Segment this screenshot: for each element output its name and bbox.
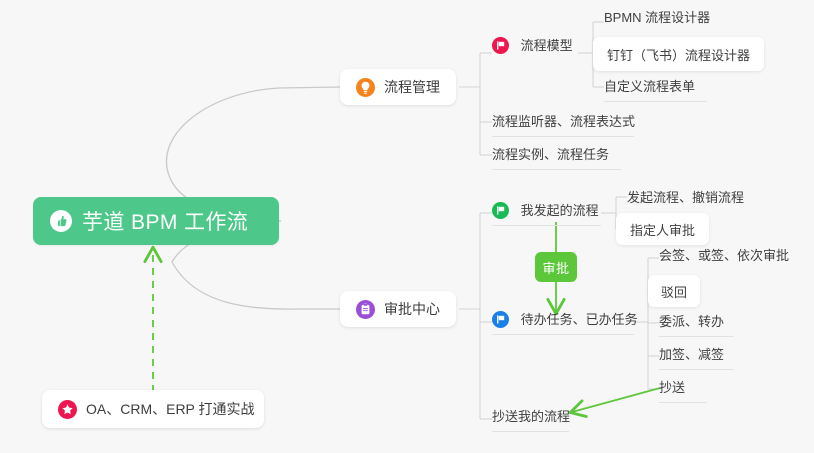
flag-icon bbox=[492, 202, 509, 219]
leaf-label: 发起流程、撤销流程 bbox=[627, 189, 744, 207]
node-my-initiated[interactable]: 我发起的流程 bbox=[492, 201, 601, 226]
leaf-label: BPMN 流程设计器 bbox=[604, 9, 710, 27]
branch-label: 流程管理 bbox=[384, 77, 440, 97]
leaf-label: 委派、转办 bbox=[659, 313, 724, 331]
leaf-label: 钉钉（飞书）流程设计器 bbox=[607, 45, 750, 64]
clipboard-icon bbox=[356, 300, 375, 319]
leaf-bpmn-designer[interactable]: BPMN 流程设计器 bbox=[604, 8, 710, 32]
leaf-label: 抄送 bbox=[659, 379, 685, 397]
leaf-label: 流程监听器、流程表达式 bbox=[492, 113, 635, 131]
flag-icon bbox=[492, 37, 509, 54]
approval-flow-tag: 审批 bbox=[535, 252, 577, 282]
branch-process-management[interactable]: 流程管理 bbox=[340, 69, 456, 105]
leaf-add-remove-sign[interactable]: 加签、减签 bbox=[659, 345, 734, 370]
leaf-label: 指定人审批 bbox=[630, 220, 695, 239]
star-icon bbox=[58, 400, 77, 419]
leaf-reject[interactable]: 驳回 bbox=[648, 275, 700, 307]
branch-label: 审批中心 bbox=[384, 299, 440, 319]
approval-flow-tag-label: 审批 bbox=[542, 258, 569, 277]
leaf-cc[interactable]: 抄送 bbox=[659, 378, 707, 403]
mindmap-canvas: 芋道 BPM 工作流 流程管理 流程模型 BPMN 流程设计器 钉钉（飞书 bbox=[0, 0, 814, 453]
leaf-label: 加签、减签 bbox=[659, 346, 724, 364]
leaf-countersign[interactable]: 会签、或签、依次审批 bbox=[659, 246, 789, 270]
leaf-listener-expression[interactable]: 流程监听器、流程表达式 bbox=[492, 112, 634, 137]
root-label: 芋道 BPM 工作流 bbox=[82, 206, 248, 236]
node-label: 流程模型 bbox=[521, 37, 573, 55]
leaf-label: 抄送我的流程 bbox=[492, 408, 570, 426]
leaf-designated-approver[interactable]: 指定人审批 bbox=[616, 213, 709, 245]
node-label: 我发起的流程 bbox=[521, 202, 599, 220]
node-process-model[interactable]: 流程模型 bbox=[492, 36, 573, 60]
lightbulb-icon bbox=[356, 78, 375, 97]
branch-approval-center[interactable]: 审批中心 bbox=[340, 291, 456, 327]
node-label: 待办任务、已办任务 bbox=[521, 311, 638, 329]
leaf-instance-task[interactable]: 流程实例、流程任务 bbox=[492, 145, 621, 170]
leaf-custom-form[interactable]: 自定义流程表单 bbox=[604, 77, 707, 102]
leaf-label: 会签、或签、依次审批 bbox=[659, 247, 789, 265]
leaf-cc-to-me[interactable]: 抄送我的流程 bbox=[492, 407, 569, 432]
leaf-label: 自定义流程表单 bbox=[604, 78, 695, 96]
leaf-delegate-transfer[interactable]: 委派、转办 bbox=[659, 312, 734, 337]
root-node[interactable]: 芋道 BPM 工作流 bbox=[33, 197, 279, 245]
leaf-start-cancel-process[interactable]: 发起流程、撤销流程 bbox=[627, 188, 744, 212]
node-integration-practice[interactable]: OA、CRM、ERP 打通实战 bbox=[42, 390, 264, 428]
leaf-label: 流程实例、流程任务 bbox=[492, 146, 609, 164]
leaf-label: 驳回 bbox=[661, 282, 687, 301]
node-todo-done-tasks[interactable]: 待办任务、已办任务 bbox=[492, 310, 634, 335]
thumbs-up-icon bbox=[50, 210, 72, 232]
leaf-dingtalk-designer[interactable]: 钉钉（飞书）流程设计器 bbox=[593, 37, 764, 71]
flag-icon bbox=[492, 311, 509, 328]
node-label: OA、CRM、ERP 打通实战 bbox=[86, 399, 255, 419]
